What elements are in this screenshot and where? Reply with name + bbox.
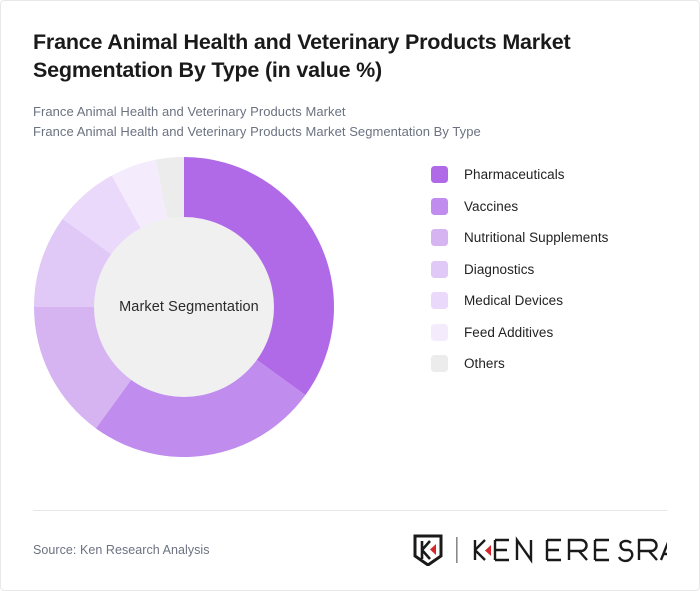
legend-item[interactable]: Pharmaceuticals — [431, 166, 699, 183]
legend-swatch-icon — [431, 355, 448, 372]
brand-separator-bar — [449, 535, 465, 565]
legend-swatch-icon — [431, 292, 448, 309]
subtitle-group: France Animal Health and Veterinary Prod… — [33, 102, 667, 143]
legend-item-label: Diagnostics — [464, 262, 534, 277]
footer-divider — [33, 510, 667, 511]
legend-item[interactable]: Vaccines — [431, 198, 699, 215]
legend-item[interactable]: Nutritional Supplements — [431, 229, 699, 246]
legend-item[interactable]: Medical Devices — [431, 292, 699, 309]
page-title: France Animal Health and Veterinary Prod… — [33, 29, 667, 85]
legend-item-label: Vaccines — [464, 199, 518, 214]
chart-header: France Animal Health and Veterinary Prod… — [1, 1, 699, 142]
legend-item-label: Medical Devices — [464, 293, 563, 308]
legend-item-label: Nutritional Supplements — [464, 230, 608, 245]
legend-item[interactable]: Diagnostics — [431, 261, 699, 278]
legend-item-label: Feed Additives — [464, 325, 553, 340]
chart-footer: Source: Ken Research Analysis — [33, 530, 667, 570]
subtitle-line-2: France Animal Health and Veterinary Prod… — [33, 122, 667, 142]
donut-svg — [19, 152, 349, 462]
legend-swatch-icon — [431, 261, 448, 278]
chart-card: France Animal Health and Veterinary Prod… — [0, 0, 700, 591]
legend-item-label: Pharmaceuticals — [464, 167, 565, 182]
legend-item[interactable]: Others — [431, 355, 699, 372]
ken-research-wordmark — [471, 535, 667, 565]
donut-hole — [94, 217, 274, 397]
donut-chart: Market Segmentation — [19, 152, 359, 462]
subtitle-line-1: France Animal Health and Veterinary Prod… — [33, 102, 667, 122]
brand-logo — [413, 534, 667, 566]
chart-legend: PharmaceuticalsVaccinesNutritional Suppl… — [431, 166, 699, 372]
legend-item-label: Others — [464, 356, 505, 371]
chart-body: Market Segmentation PharmaceuticalsVacci… — [1, 142, 699, 472]
legend-swatch-icon — [431, 324, 448, 341]
legend-swatch-icon — [431, 166, 448, 183]
legend-item[interactable]: Feed Additives — [431, 324, 699, 341]
source-note: Source: Ken Research Analysis — [33, 543, 210, 557]
legend-swatch-icon — [431, 198, 448, 215]
ken-research-shield-icon — [413, 534, 443, 566]
legend-swatch-icon — [431, 229, 448, 246]
